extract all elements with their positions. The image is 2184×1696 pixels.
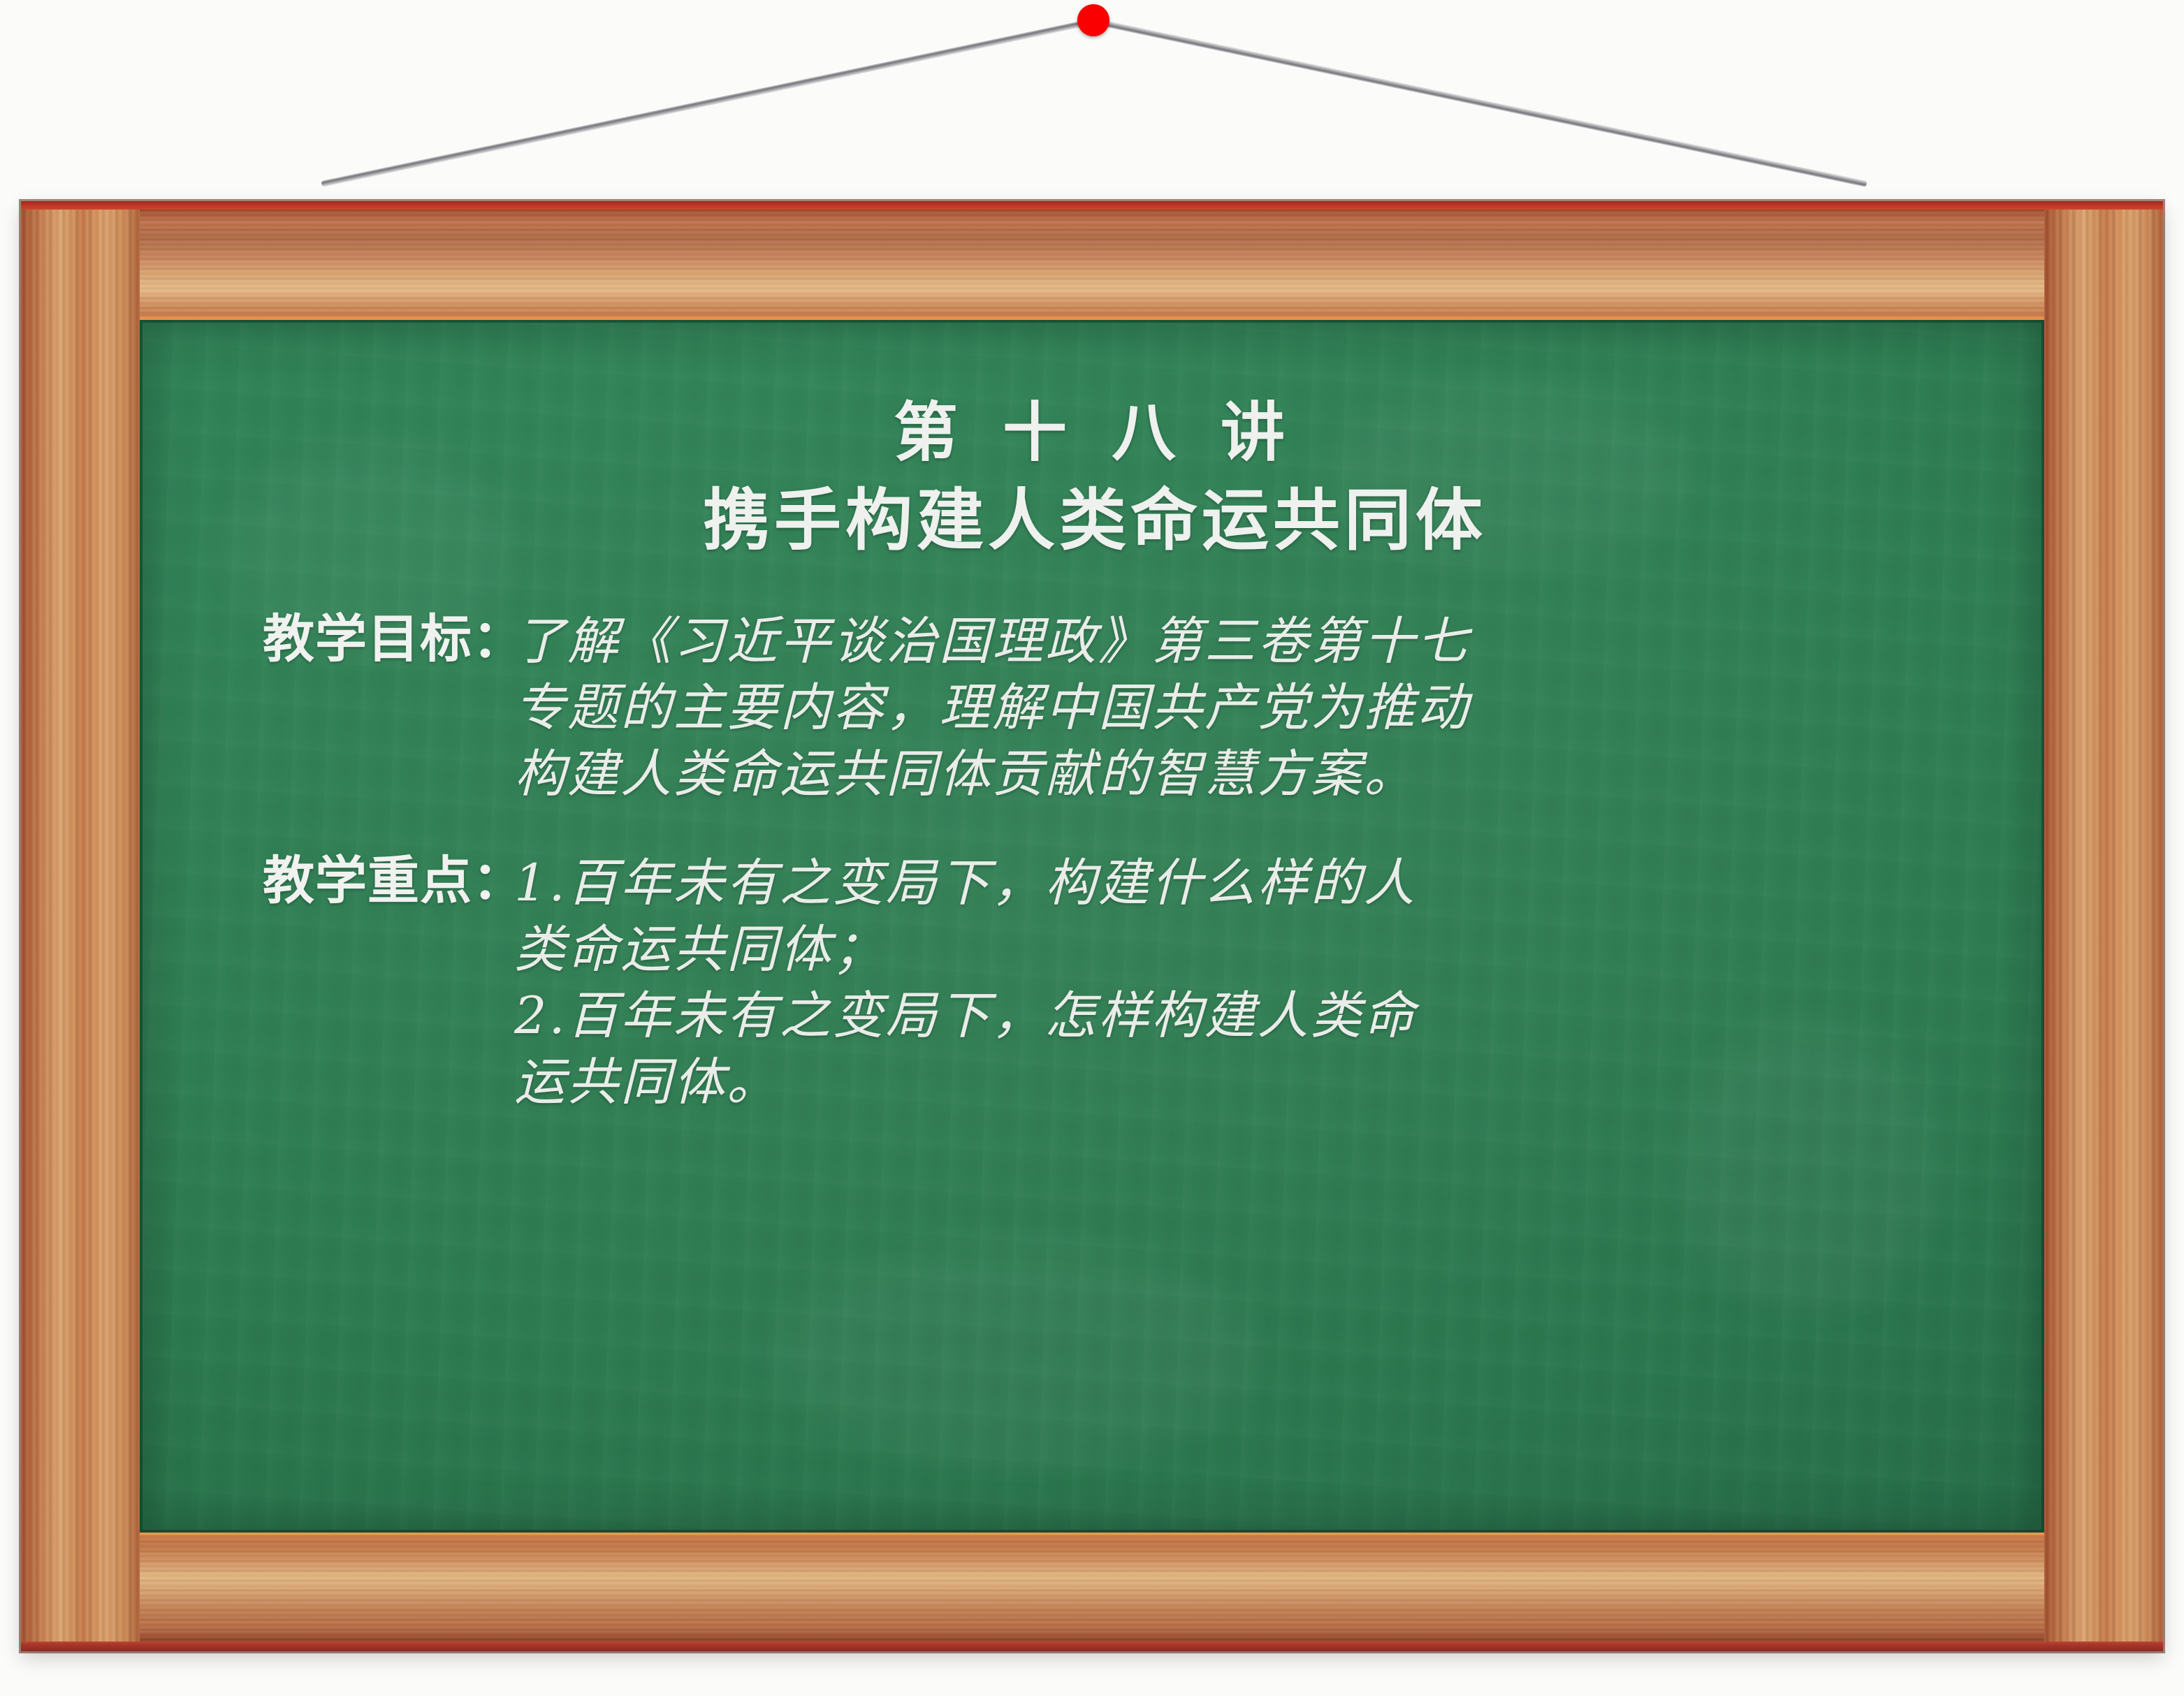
frame-rail-top — [140, 210, 2044, 320]
section-body-focus: 1.百年未有之变局下，构建什么样的人 类命运共同体； 2.百年未有之变局下，怎样… — [514, 851, 1977, 1116]
lesson-main-title: 携手构建人类命运共同体 — [212, 477, 1977, 564]
lesson-sections: 教学目标： 了解《习近平谈治国理政》第三卷第十七 专题的主要内容，理解中国共产党… — [212, 609, 1977, 1116]
objectives-line-3: 构建人类命运共同体贡献的智慧方案。 — [514, 742, 1977, 808]
frame-rail-bottom — [140, 1531, 2044, 1642]
chalkboard-surface: 第 十 八 讲 携手构建人类命运共同体 教学目标： 了解《习近平谈治国理政》第三… — [140, 320, 2044, 1533]
section-label-objectives: 教学目标： — [212, 609, 514, 670]
lesson-number-title: 第 十 八 讲 — [212, 393, 1977, 473]
focus-line-2: 类命运共同体； — [514, 917, 1977, 984]
objectives-line-2: 专题的主要内容，理解中国共产党为推动 — [514, 675, 1977, 742]
focus-line-4: 运共同体。 — [514, 1050, 1977, 1116]
objectives-line-1: 了解《习近平谈治国理政》第三卷第十七 — [514, 609, 1977, 675]
frame-stile-left — [21, 210, 140, 1642]
frame-stile-right — [2044, 210, 2163, 1642]
section-teaching-focus: 教学重点： 1.百年未有之变局下，构建什么样的人 类命运共同体； 2.百年未有之… — [212, 851, 1977, 1116]
focus-line-1: 1.百年未有之变局下，构建什么样的人 — [514, 851, 1977, 917]
blackboard-wooden-frame: 第 十 八 讲 携手构建人类命运共同体 教学目标： 了解《习近平谈治国理政》第三… — [21, 201, 2163, 1651]
lesson-title-block: 第 十 八 讲 携手构建人类命运共同体 — [212, 393, 1977, 564]
frame-top-accent — [21, 201, 2163, 210]
section-label-focus: 教学重点： — [212, 851, 514, 912]
section-teaching-objectives: 教学目标： 了解《习近平谈治国理政》第三卷第十七 专题的主要内容，理解中国共产党… — [212, 609, 1977, 808]
focus-line-3: 2.百年未有之变局下，怎样构建人类命 — [514, 984, 1977, 1050]
section-body-objectives: 了解《习近平谈治国理政》第三卷第十七 专题的主要内容，理解中国共产党为推动 构建… — [514, 609, 1977, 808]
board-content: 第 十 八 讲 携手构建人类命运共同体 教学目标： 了解《习近平谈治国理政》第三… — [140, 320, 2044, 1533]
frame-bottom-accent — [21, 1642, 2163, 1651]
